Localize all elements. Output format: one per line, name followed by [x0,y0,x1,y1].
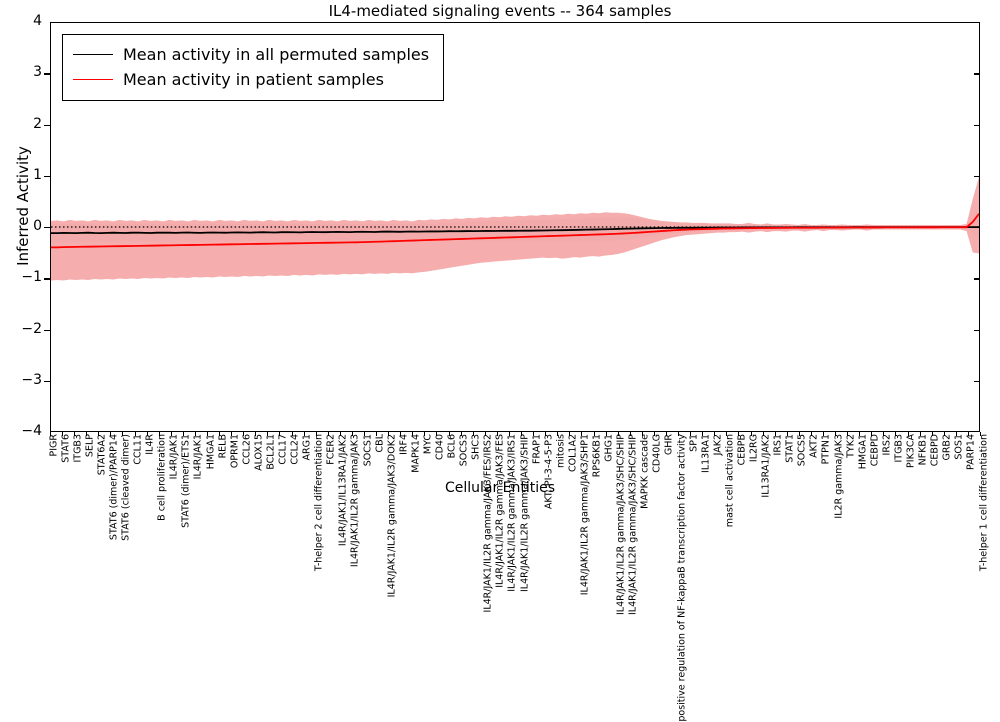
x-axis-label: Cellular Entities [0,480,1000,496]
y-tick-mark [974,330,980,331]
legend-swatch-patient [73,79,113,80]
chart-title: IL4-mediated signaling events -- 364 sam… [0,2,1000,20]
x-tick-label: FRAP1 [532,434,542,464]
y-tick-mark [974,227,980,228]
x-tick-label: B cell proliferation [157,434,167,521]
x-tick-label: IRS1 [773,434,783,455]
legend-swatch-permuted [73,54,113,55]
x-tick-label: BCL2L1 [266,434,276,470]
x-tick-label: ALOX15 [254,434,264,471]
x-tick-label: SOCS5 [798,434,808,466]
legend-entry-patient: Mean activity in patient samples [73,67,429,92]
y-tick-label: 3 [0,64,42,80]
x-tick-label: RPS6KB1 [592,434,602,477]
band-patient [51,177,979,281]
x-tick-label: IL4R/JAK1/IL2R gamma/JAK3/SHC/SHIP [616,434,626,615]
x-tick-label: PTPN1 [822,434,832,464]
x-tick-label: SELP [85,434,95,457]
x-tick-label: CCL24 [290,434,300,465]
x-tick-label: IL4R/JAK1 [170,434,180,479]
legend-label-permuted: Mean activity in all permuted samples [123,45,429,64]
x-tick-label: SP1 [689,434,699,452]
x-tick-label: CEBPD [930,434,940,466]
x-tick-label: IRF4 [399,434,409,455]
x-tick-label: IL4R [145,434,155,455]
x-tick-label: TYK2 [846,434,856,458]
x-tick-label: IL4R/JAK1/IL2R gamma/JAK3/SHC/SHIP [628,434,638,615]
x-tick-label: IL4R/JAK1/IL2R gamma/JAK3/SHIP [520,434,530,592]
x-tick-label: BCL6 [447,434,457,458]
y-tick-label: −2 [0,321,42,337]
x-tick-label: T-helper 1 cell differentiation [979,434,989,571]
x-tick-label: IL4R/JAK1/IL2R gamma/JAK3/IRS1 [508,434,518,592]
legend: Mean activity in all permuted samples Me… [62,34,444,101]
y-tick-mark [974,278,980,279]
y-tick-mark [44,278,50,279]
x-tick-label: PARP14 [967,434,977,470]
x-tick-label: MYC [423,434,433,454]
x-tick-label: IL13RA1 [701,434,711,473]
x-tick-label: STAT6 [61,434,71,463]
legend-label-patient: Mean activity in patient samples [123,70,384,89]
x-tick-label: CD40LG [653,434,663,473]
x-tick-label: IL2RG [749,434,759,462]
x-tick-label: SOS1 [955,434,965,460]
x-tick-label: IL4R/JAK1/IL2R gamma/JAK3/FES/IRS2 [484,434,494,612]
y-tick-mark [44,330,50,331]
y-tick-mark [974,125,980,126]
y-tick-mark [44,227,50,228]
x-tick-label: PIK3CA [906,434,916,468]
y-tick-label: −1 [0,269,42,285]
x-tick-label: RELB [218,434,228,458]
x-tick-label: IRS2 [882,434,892,455]
x-tick-label: HMGA1 [206,434,216,469]
x-tick-label: SHC3 [471,434,481,460]
x-tick-label: AKT2 [810,434,820,458]
x-tick-label: AKT: PI-3-4-5-P3 [544,434,554,509]
x-tick-label: CD40 [435,434,445,460]
x-tick-label: SOCS3 [459,434,469,466]
y-tick-label: 0 [0,218,42,234]
x-tick-label: GHG1 [604,434,614,462]
x-tick-label: MAPK14 [411,434,421,473]
x-tick-label: NFKB1 [918,434,928,465]
x-tick-label: IL4R/JAK1/IL2R gamma/JAK3 [351,434,361,567]
y-tick-mark [44,125,50,126]
x-tick-label: CEBPB [737,434,747,465]
y-tick-mark [44,73,50,74]
x-tick-label: HMGA1 [858,434,868,469]
x-tick-label: T-helper 2 cell differentiation [314,434,324,571]
y-tick-label: −3 [0,372,42,388]
x-tick-label: IL4R/JAK1 [194,434,204,479]
x-tick-label: IL2R gamma/JAK3 [834,434,844,519]
x-tick-label: GHR [665,434,675,455]
x-tick-label: ARG1 [302,434,312,461]
figure: IL4-mediated signaling events -- 364 sam… [0,0,1000,500]
y-tick-label: 2 [0,116,42,132]
y-tick-label: 1 [0,167,42,183]
x-tick-label: mitosis [556,434,566,468]
x-tick-label: CCL11 [133,434,143,465]
x-tick-label: STAT6A2 [97,434,107,475]
x-tick-label: IL4R/JAK1/IL2R gamma/JAK3/SHP1 [580,434,590,595]
x-tick-label: STAT1 [786,434,796,463]
x-tick-label: SOCS1 [363,434,373,466]
x-tick-label: CBL [375,434,385,452]
x-tick-label: JAK2 [713,434,723,455]
y-tick-mark [974,176,980,177]
x-tick-label: OPRM1 [230,434,240,468]
x-tick-label: FCER2 [327,434,337,465]
x-tick-label: PIGR [49,434,59,457]
y-tick-mark [44,176,50,177]
x-tick-label: MAPKK cascade [641,434,651,509]
x-tick-label: CCL26 [242,434,252,465]
x-tick-label: ITGB3 [894,434,904,463]
x-tick-label: CEBPD [870,434,880,466]
y-tick-mark [974,381,980,382]
x-tick-label: IL4R/JAK1/IL2R gamma/JAK3/FES [496,434,506,588]
legend-entry-permuted: Mean activity in all permuted samples [73,42,429,67]
x-tick-label: ITGB3 [73,434,83,463]
x-tick-label: positive regulation of NF-kappaB transcr… [677,434,687,722]
y-tick-label: 4 [0,13,42,29]
x-tick-label: COL1A2 [568,434,578,472]
y-tick-mark [974,73,980,74]
y-tick-mark [44,381,50,382]
x-tick-label: GRB2 [943,434,953,461]
x-tick-label: IL4R/JAK1/IL2R gamma/JAK3/DOK2 [387,434,397,597]
y-tick-label: −4 [0,423,42,439]
x-tick-label: CCL17 [278,434,288,465]
